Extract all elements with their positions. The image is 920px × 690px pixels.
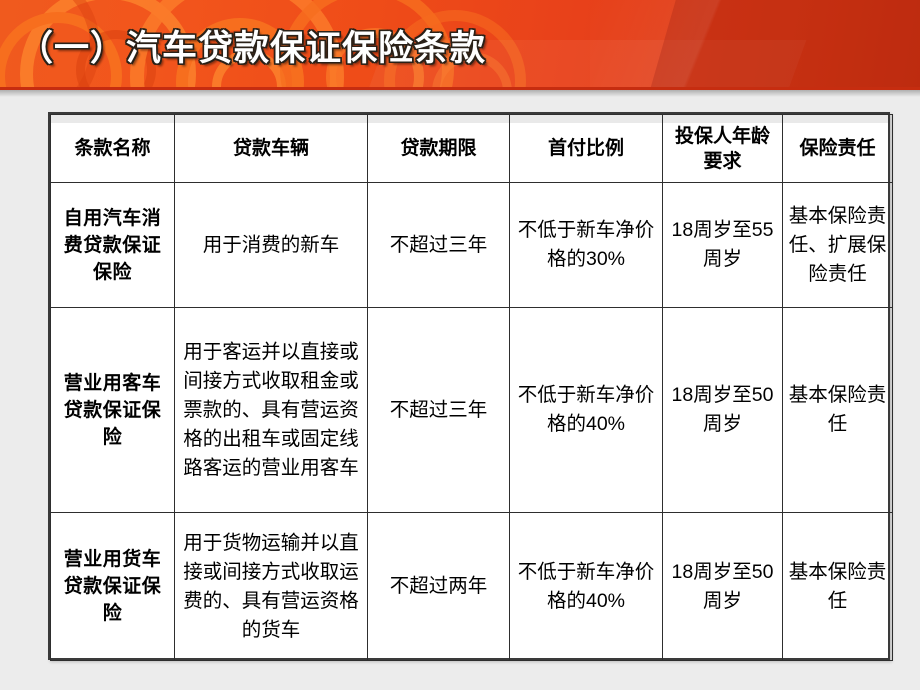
cell-down-payment: 不低于新车净价格的30%: [510, 183, 663, 308]
cell-loan-vehicle: 用于消费的新车: [175, 183, 368, 308]
page-title: （一）汽车贷款保证保险条款: [18, 28, 486, 70]
cell-down-payment: 不低于新车净价格的40%: [510, 513, 663, 661]
cell-loan-period: 不超过三年: [368, 308, 510, 513]
column-header-loan-period: 贷款期限: [368, 115, 510, 183]
column-header-term-name: 条款名称: [51, 115, 175, 183]
cell-applicant-age: 18周岁至50周岁: [663, 513, 783, 661]
cell-term-name: 营业用客车贷款保证保险: [51, 308, 175, 513]
column-header-loan-vehicle: 贷款车辆: [175, 115, 368, 183]
terms-table-container: 条款名称 贷款车辆 贷款期限 首付比例 投保人年龄要求 保险责任 自用汽车消费贷…: [48, 112, 890, 660]
cell-liability: 基本保险责任、扩展保险责任: [783, 183, 893, 308]
cell-term-name: 营业用货车贷款保证保险: [51, 513, 175, 661]
auto-loan-guarantee-insurance-terms-table: 条款名称 贷款车辆 贷款期限 首付比例 投保人年龄要求 保险责任 自用汽车消费贷…: [50, 114, 893, 661]
column-header-liability: 保险责任: [783, 115, 893, 183]
header-banner: （一）汽车贷款保证保险条款: [0, 0, 920, 90]
cell-liability: 基本保险责任: [783, 513, 893, 661]
cell-loan-period: 不超过两年: [368, 513, 510, 661]
cell-loan-period: 不超过三年: [368, 183, 510, 308]
cell-applicant-age: 18周岁至50周岁: [663, 308, 783, 513]
cell-loan-vehicle: 用于货物运输并以直接或间接方式收取运费的、具有营运资格的货车: [175, 513, 368, 661]
column-header-down-payment: 首付比例: [510, 115, 663, 183]
cell-term-name: 自用汽车消费贷款保证保险: [51, 183, 175, 308]
banner-drop-shadow: [0, 90, 920, 97]
table-row: 营业用客车贷款保证保险 用于客运并以直接或间接方式收取租金或票款的、具有营运资格…: [51, 308, 893, 513]
column-header-applicant-age: 投保人年龄要求: [663, 115, 783, 183]
table-row: 自用汽车消费贷款保证保险 用于消费的新车 不超过三年 不低于新车净价格的30% …: [51, 183, 893, 308]
cell-applicant-age: 18周岁至55周岁: [663, 183, 783, 308]
cell-loan-vehicle: 用于客运并以直接或间接方式收取租金或票款的、具有营运资格的出租车或固定线路客运的…: [175, 308, 368, 513]
table-header-row: 条款名称 贷款车辆 贷款期限 首付比例 投保人年龄要求 保险责任: [51, 115, 893, 183]
cell-liability: 基本保险责任: [783, 308, 893, 513]
table-row: 营业用货车贷款保证保险 用于货物运输并以直接或间接方式收取运费的、具有营运资格的…: [51, 513, 893, 661]
cell-down-payment: 不低于新车净价格的40%: [510, 308, 663, 513]
banner-gloss: [590, 0, 920, 90]
